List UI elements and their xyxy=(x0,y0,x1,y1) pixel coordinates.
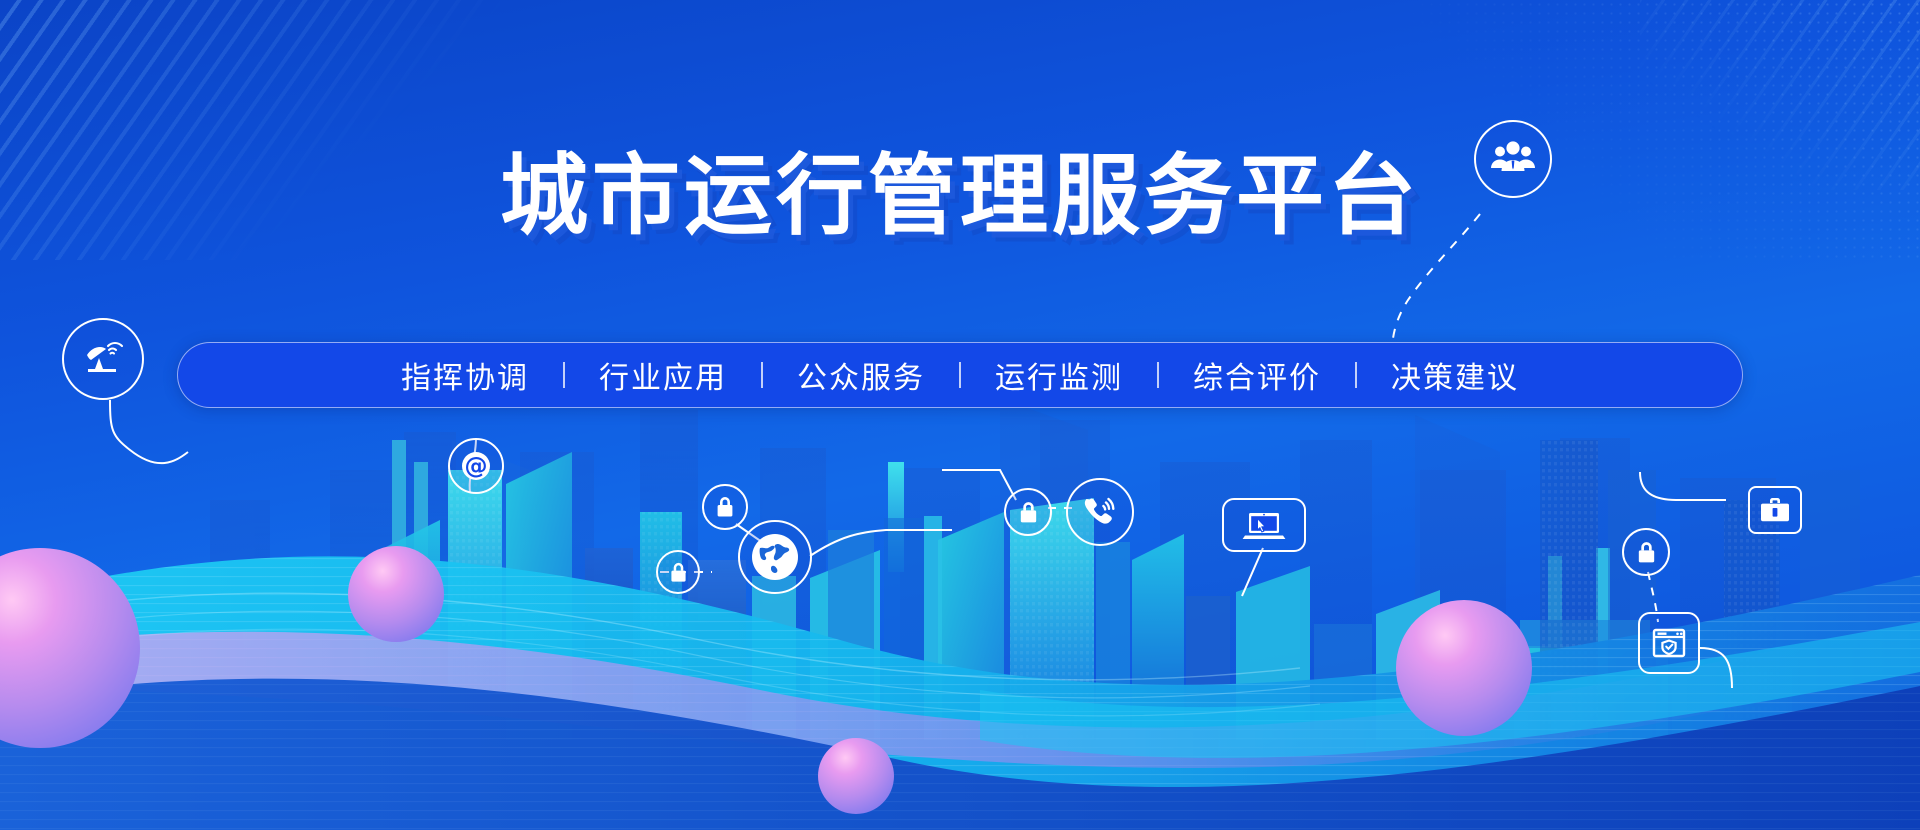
lock-icon-4 xyxy=(1634,539,1659,566)
phone-call-icon xyxy=(1079,491,1121,533)
page-title: 城市运行管理服务平台 xyxy=(500,150,1420,242)
nav-item-0[interactable]: 指挥协调 xyxy=(367,353,563,397)
briefcase-icon-node[interactable] xyxy=(1748,486,1802,534)
lock-icon-3 xyxy=(1016,499,1041,526)
satellite-dish-icon xyxy=(80,336,126,382)
laptop-cursor-icon xyxy=(1239,507,1289,543)
lock-icon-4-node[interactable] xyxy=(1622,528,1670,576)
nav-bar[interactable]: 指挥协调 行业应用 公众服务 运行监测 综合评价 决策建议 xyxy=(177,342,1743,408)
phone-call-icon-node[interactable] xyxy=(1066,478,1134,546)
globe-icon xyxy=(748,530,802,584)
at-email-icon-node[interactable]: @ xyxy=(448,438,504,494)
lock-icon-2 xyxy=(667,560,690,585)
nav-item-3[interactable]: 运行监测 xyxy=(961,353,1157,397)
nav-item-4[interactable]: 综合评价 xyxy=(1159,353,1355,397)
title-block: 城市运行管理服务平台 xyxy=(0,150,1920,242)
nav-item-1[interactable]: 行业应用 xyxy=(565,353,761,397)
satellite-dish-icon-node[interactable] xyxy=(62,318,144,400)
lock-icon-1 xyxy=(713,494,737,520)
connector-lines xyxy=(0,0,1920,830)
browser-shield-icon-node[interactable] xyxy=(1638,612,1700,674)
svg-text:@: @ xyxy=(465,454,488,480)
lock-icon-3-node[interactable] xyxy=(1004,488,1052,536)
browser-shield-icon xyxy=(1648,622,1690,664)
at-email-icon: @ xyxy=(459,449,493,483)
nav-item-5[interactable]: 决策建议 xyxy=(1357,353,1553,397)
banner-stage: @ xyxy=(0,0,1920,830)
nav-items: 指挥协调 行业应用 公众服务 运行监测 综合评价 决策建议 xyxy=(367,353,1553,397)
briefcase-icon xyxy=(1758,495,1792,525)
laptop-cursor-icon-node[interactable] xyxy=(1222,498,1306,552)
globe-icon-node[interactable] xyxy=(738,520,812,594)
nav-item-2[interactable]: 公众服务 xyxy=(763,353,959,397)
lock-icon-2-node[interactable] xyxy=(656,550,700,594)
